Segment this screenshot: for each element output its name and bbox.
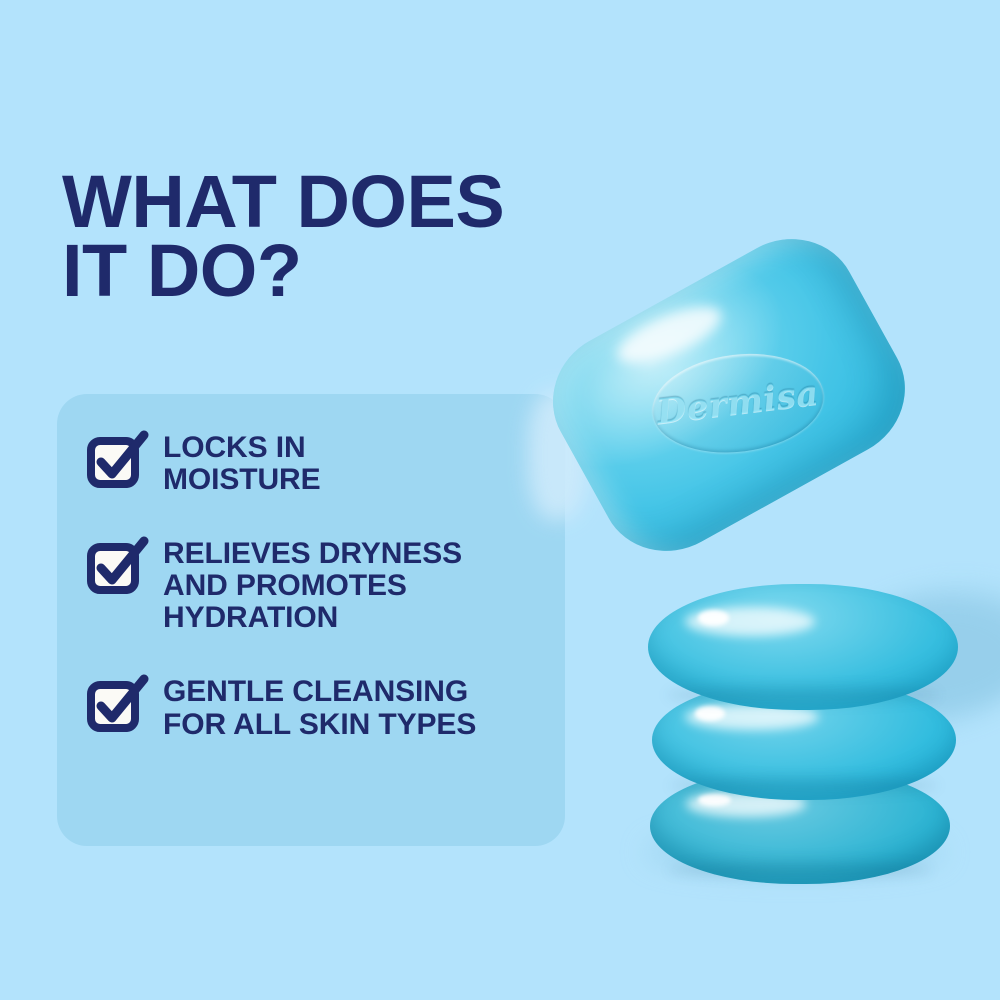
promo-graphic: WHAT DOES IT DO? LOCKS IN MOISTURE xyxy=(0,0,1000,1000)
checkbox-checked-icon xyxy=(87,674,149,732)
list-item: RELIEVES DRYNESS AND PROMOTES HYDRATION xyxy=(87,534,551,634)
soap-bar-top-tilted: Dermisa xyxy=(529,214,929,575)
product-image-soap-stack: Dermisa xyxy=(500,240,1000,900)
benefits-card: LOCKS IN MOISTURE RELIEVES DRYNESS AND P… xyxy=(57,394,565,846)
checkbox-checked-icon xyxy=(87,430,149,488)
benefit-label: GENTLE CLEANSING FOR ALL SKIN TYPES xyxy=(163,672,476,740)
checkbox-checked-icon xyxy=(87,536,149,594)
benefit-label: LOCKS IN MOISTURE xyxy=(163,428,321,496)
benefit-label: RELIEVES DRYNESS AND PROMOTES HYDRATION xyxy=(163,534,462,634)
brand-emboss-label: Dermisa xyxy=(654,374,820,434)
benefits-list: LOCKS IN MOISTURE RELIEVES DRYNESS AND P… xyxy=(87,428,551,741)
soap-bar-middle-upper xyxy=(648,584,958,710)
list-item: GENTLE CLEANSING FOR ALL SKIN TYPES xyxy=(87,672,551,740)
brand-emboss: Dermisa xyxy=(646,345,828,462)
list-item: LOCKS IN MOISTURE xyxy=(87,428,551,496)
